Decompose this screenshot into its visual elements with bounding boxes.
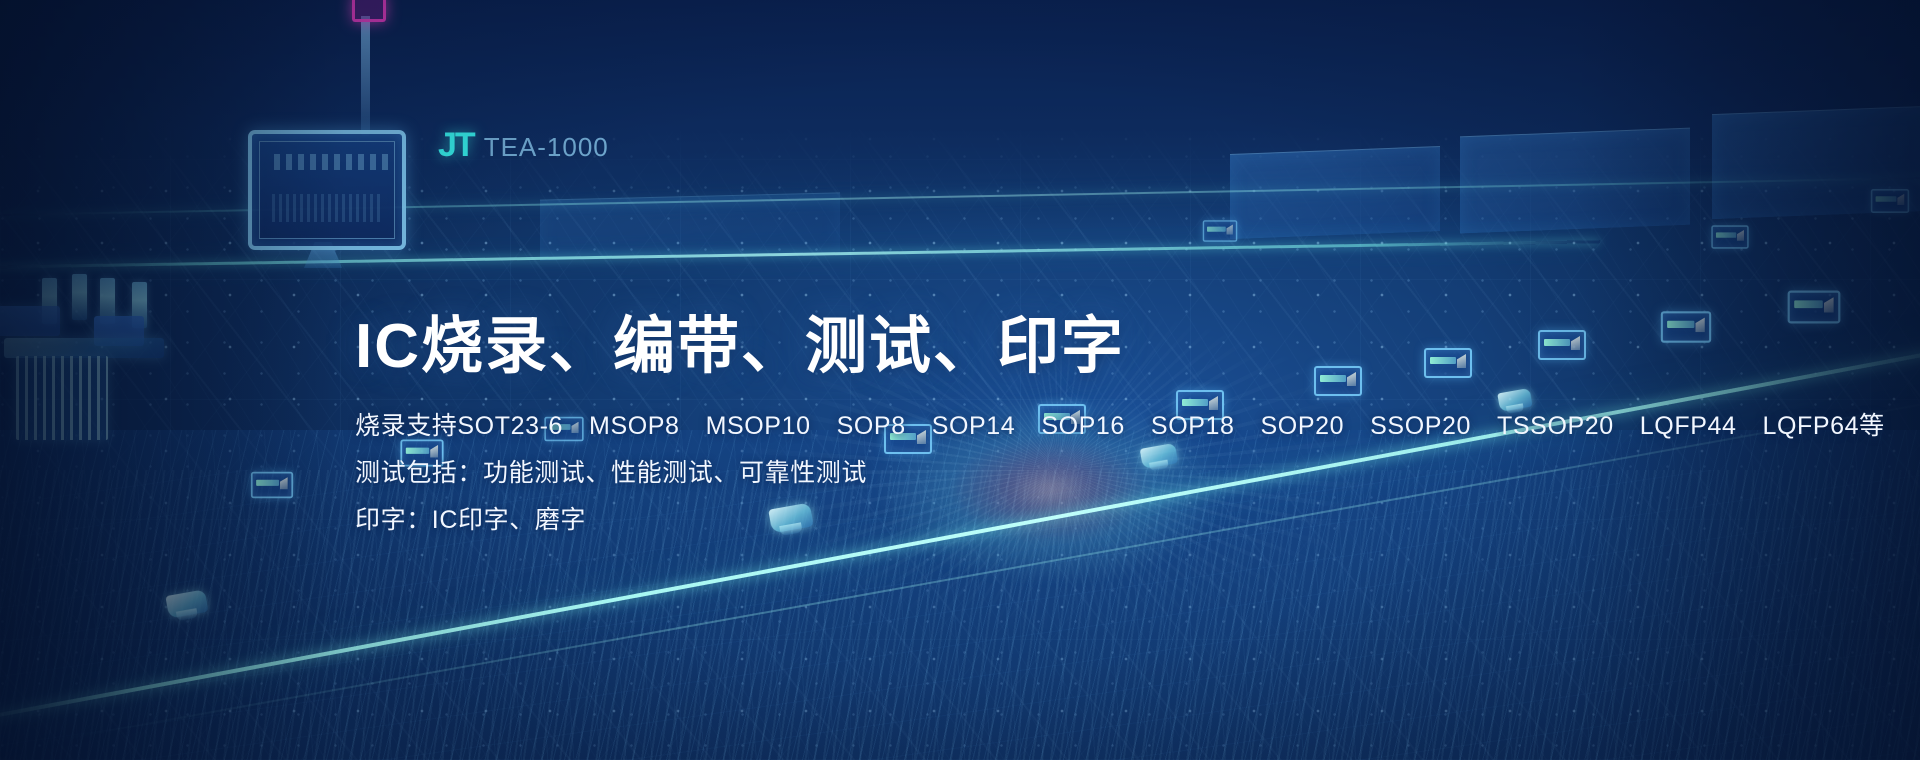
supported-packages-line: 烧录支持SOT23-6 MSOP8MSOP10SOP8SOP14SOP16SOP… bbox=[355, 411, 1615, 441]
equipment-silhouette bbox=[1460, 128, 1690, 234]
machine-plate bbox=[0, 306, 60, 336]
package-label: MSOP10 bbox=[706, 411, 811, 441]
package-label: SOP14 bbox=[932, 411, 1016, 441]
package-label: SOP20 bbox=[1261, 411, 1345, 441]
chip-tray-icon bbox=[1203, 220, 1238, 242]
machine-rack bbox=[16, 356, 108, 440]
testing-line: 测试包括：功能测试、性能测试、可靠性测试 bbox=[355, 458, 1615, 488]
package-label: TSSOP20 bbox=[1497, 411, 1614, 441]
package-label: SSOP20 bbox=[1370, 411, 1471, 441]
brand-logo-text: JT bbox=[438, 126, 474, 165]
chip-tray-icon bbox=[1871, 189, 1909, 213]
chip-tray-icon bbox=[1711, 225, 1748, 248]
package-label: SOP8 bbox=[837, 411, 906, 441]
brand-model-text: TEA-1000 bbox=[484, 132, 609, 163]
banner-subtitles: 烧录支持SOT23-6 MSOP8MSOP10SOP8SOP14SOP16SOP… bbox=[355, 411, 1615, 535]
promo-banner: JT TEA-1000 IC烧录、编带、测试、印字 烧录支持SOT23-6 MS… bbox=[0, 0, 1920, 760]
sensor-head-icon bbox=[352, 0, 386, 22]
package-label: SOP16 bbox=[1041, 411, 1125, 441]
package-label: SOP18 bbox=[1151, 411, 1235, 441]
monitor-icon bbox=[248, 130, 406, 250]
page-title: IC烧录、编带、测试、印字 bbox=[355, 314, 1615, 381]
package-label: MSOP8 bbox=[589, 411, 680, 441]
equipment-silhouette bbox=[1230, 146, 1440, 239]
industrial-machine-icon bbox=[0, 272, 180, 442]
package-label: LQFP64等 bbox=[1762, 411, 1884, 441]
sensor-stem bbox=[361, 16, 370, 136]
chip-tray-icon bbox=[1661, 311, 1711, 343]
package-label: LQFP44 bbox=[1640, 411, 1737, 441]
chip-tray-icon bbox=[251, 472, 293, 498]
packages-prefix: 烧录支持SOT23-6 bbox=[355, 411, 563, 441]
monitor-screen bbox=[259, 141, 395, 239]
banner-content: IC烧录、编带、测试、印字 烧录支持SOT23-6 MSOP8MSOP10SOP… bbox=[355, 314, 1615, 535]
carriage-icon bbox=[165, 589, 208, 618]
brand-mark: JT TEA-1000 bbox=[438, 126, 609, 165]
nozzle-icon bbox=[72, 274, 87, 320]
chip-tray-icon bbox=[1788, 291, 1841, 324]
marking-line: 印字：IC印字、磨字 bbox=[355, 505, 1615, 535]
machine-base bbox=[4, 338, 164, 358]
